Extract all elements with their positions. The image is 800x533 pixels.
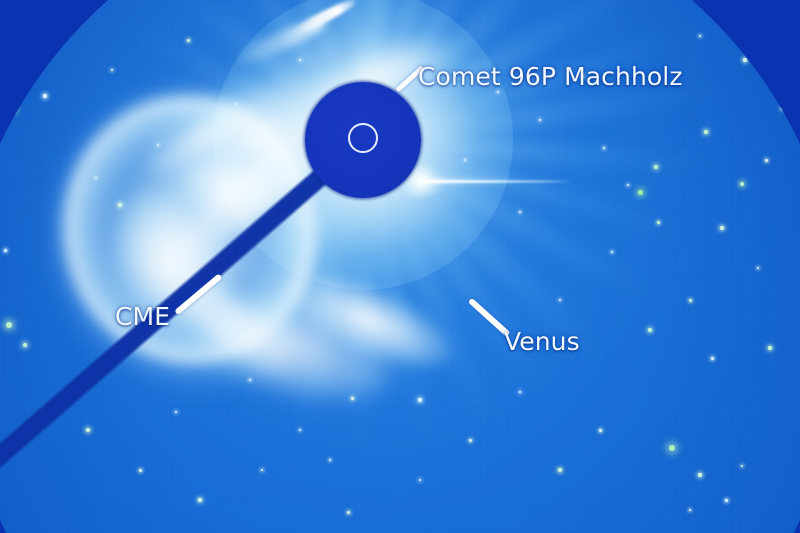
star [559,299,561,301]
star [740,182,744,186]
star [23,343,27,347]
star [711,357,714,360]
star [720,226,723,229]
star [235,103,238,106]
star [329,459,331,461]
star [187,39,190,42]
star [261,469,264,472]
star [603,147,606,150]
star [741,465,744,468]
star [4,249,7,252]
star [299,429,302,432]
star [249,379,252,382]
star [539,119,542,122]
star [657,221,660,224]
star [599,429,602,432]
star [725,499,728,502]
star [418,398,421,401]
star [519,391,522,394]
comet-nucleus-streak [289,0,360,39]
star [51,35,54,38]
venus-label: Venus [504,327,580,356]
star [139,469,142,472]
star [347,511,350,514]
star [157,144,160,147]
star [781,107,784,110]
star [768,346,771,349]
star [757,267,760,270]
star [638,190,643,195]
lower-coronal-arc [273,254,463,386]
comet-label: Comet 96P Machholz [418,62,683,91]
star [611,251,614,254]
cme-tendril [137,86,280,184]
star [111,69,114,72]
star [299,59,302,62]
star [689,509,692,512]
star [6,322,12,328]
star [558,468,561,471]
star [519,211,522,214]
star [654,165,658,169]
star [43,94,46,97]
star [60,4,65,9]
star [648,328,651,331]
star [469,439,472,442]
cme-shell [43,76,338,384]
star [419,479,422,482]
star [118,203,121,206]
star [497,91,500,94]
cme-label: CME [115,302,170,331]
star [86,428,90,432]
star [698,473,701,476]
star [765,159,768,162]
star [704,130,708,134]
star [198,498,201,501]
star [669,445,675,451]
sun-position-circle [348,123,378,153]
star [743,58,746,61]
coronagraph-image: Comet 96P Machholz CME Venus [0,0,800,533]
star [95,177,98,180]
star [699,35,702,38]
star [12,108,16,112]
star [464,159,466,161]
star [689,299,692,302]
star [175,411,177,413]
star [351,397,354,400]
occulting-disk [305,82,421,198]
star [627,184,630,187]
